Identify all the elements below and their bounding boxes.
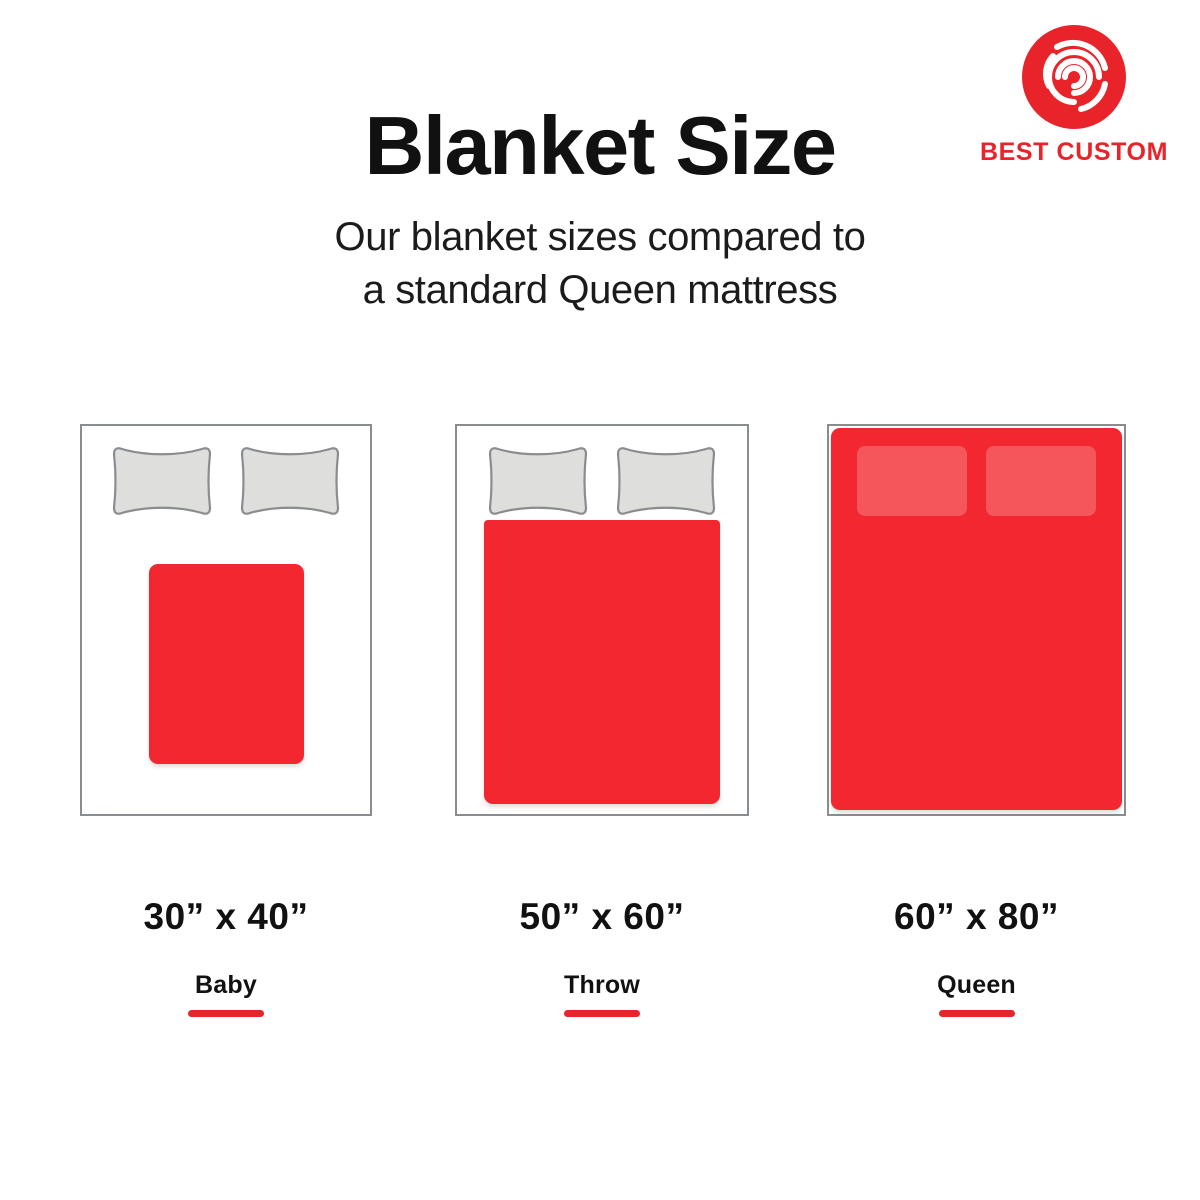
blanket-throw (484, 520, 720, 804)
caption-underline-baby (188, 1010, 264, 1017)
page-subtitle-line-1: Our blanket sizes compared to (0, 211, 1200, 264)
pillow-left-baby (108, 446, 216, 516)
bed-figure-baby (80, 424, 372, 816)
pillow-right-baby (236, 446, 344, 516)
page-subtitle-line-2: a standard Queen mattress (0, 264, 1200, 317)
bed-comparison-diagram (0, 424, 1200, 816)
caption-dimensions-queen: 60” x 80” (827, 898, 1126, 935)
pillow-right-queen (986, 446, 1096, 516)
blanket-baby (149, 564, 304, 764)
page-title: Blanket Size (0, 104, 1200, 189)
blanket-queen (831, 428, 1122, 810)
caption-underline-queen (939, 1010, 1015, 1017)
caption-dimensions-throw: 50” x 60” (455, 898, 749, 935)
page-subtitle: Our blanket sizes compared to a standard… (0, 211, 1200, 317)
bed-figure-queen (827, 424, 1126, 816)
caption-underline-throw (564, 1010, 640, 1017)
pillow-left-throw (484, 446, 592, 516)
heading-block: Blanket Size Our blanket sizes compared … (0, 104, 1200, 317)
caption-queen: 60” x 80” Queen (827, 898, 1126, 1017)
caption-name-throw: Throw (455, 973, 749, 998)
bed-figure-throw (455, 424, 749, 816)
caption-name-queen: Queen (827, 973, 1126, 998)
size-captions: 30” x 40” Baby 50” x 60” Throw 60” x 80”… (0, 898, 1200, 1048)
pillow-right-throw (612, 446, 720, 516)
caption-baby: 30” x 40” Baby (80, 898, 372, 1017)
caption-dimensions-baby: 30” x 40” (80, 898, 372, 935)
caption-name-baby: Baby (80, 973, 372, 998)
pillow-left-queen (857, 446, 967, 516)
caption-throw: 50” x 60” Throw (455, 898, 749, 1017)
